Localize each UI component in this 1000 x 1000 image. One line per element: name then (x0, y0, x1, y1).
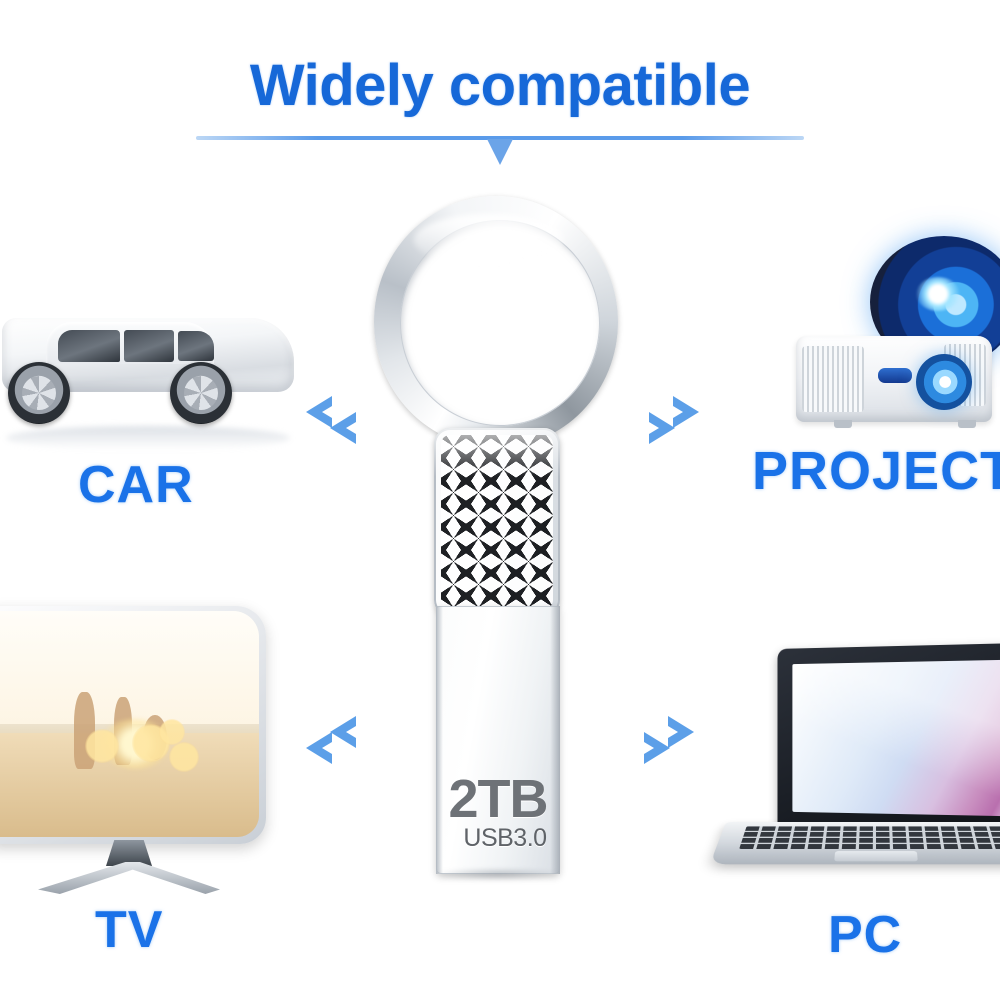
projector-body (796, 336, 992, 422)
car-wheel (8, 362, 70, 424)
car-window (58, 330, 120, 362)
tv-scene-bokeh (85, 729, 119, 763)
laptop-touchpad (834, 851, 918, 861)
body-edge (436, 606, 443, 874)
car-window (124, 330, 174, 362)
tv-stand (38, 862, 220, 894)
keyring-highlight (414, 214, 564, 266)
projector-icon (762, 242, 1000, 442)
projector-lens (916, 354, 972, 410)
car-wheel (170, 362, 232, 424)
compat-label-pc: PC (828, 905, 902, 965)
tv-frame (0, 606, 266, 844)
projector-foot (834, 420, 852, 428)
capacity-engraving: 2TB (436, 772, 560, 826)
television-icon (0, 600, 282, 900)
car-reflection (6, 426, 290, 450)
laptop-keyboard (739, 826, 1000, 849)
laptop-icon (716, 646, 1000, 896)
metal-body: 2TB USB3.0 (436, 606, 560, 874)
tv-screen (0, 611, 259, 837)
projector-badge (878, 368, 912, 383)
cap-highlight (434, 428, 560, 477)
laptop-base (710, 822, 1000, 864)
knurled-cap (434, 428, 560, 616)
car-window (178, 331, 214, 361)
projector-foot (958, 420, 976, 428)
laptop-lid (778, 643, 1000, 833)
interface-engraving: USB3.0 (450, 824, 560, 853)
car-icon (0, 286, 306, 446)
page-title: Widely compatible (0, 52, 1000, 119)
laptop-screen (792, 660, 1000, 817)
marketing-banner: Widely compatible CAR PROJECT (0, 0, 1000, 1000)
compat-label-tv: TV (95, 900, 163, 960)
keyring-loop (374, 196, 618, 448)
usb-flash-drive: 2TB USB3.0 (370, 196, 636, 886)
compat-label-project: PROJECT (752, 440, 1000, 502)
down-triangle-icon (487, 139, 513, 165)
projector-vents (802, 346, 864, 412)
compat-label-car: CAR (78, 455, 194, 515)
drive-shadow (434, 868, 562, 880)
